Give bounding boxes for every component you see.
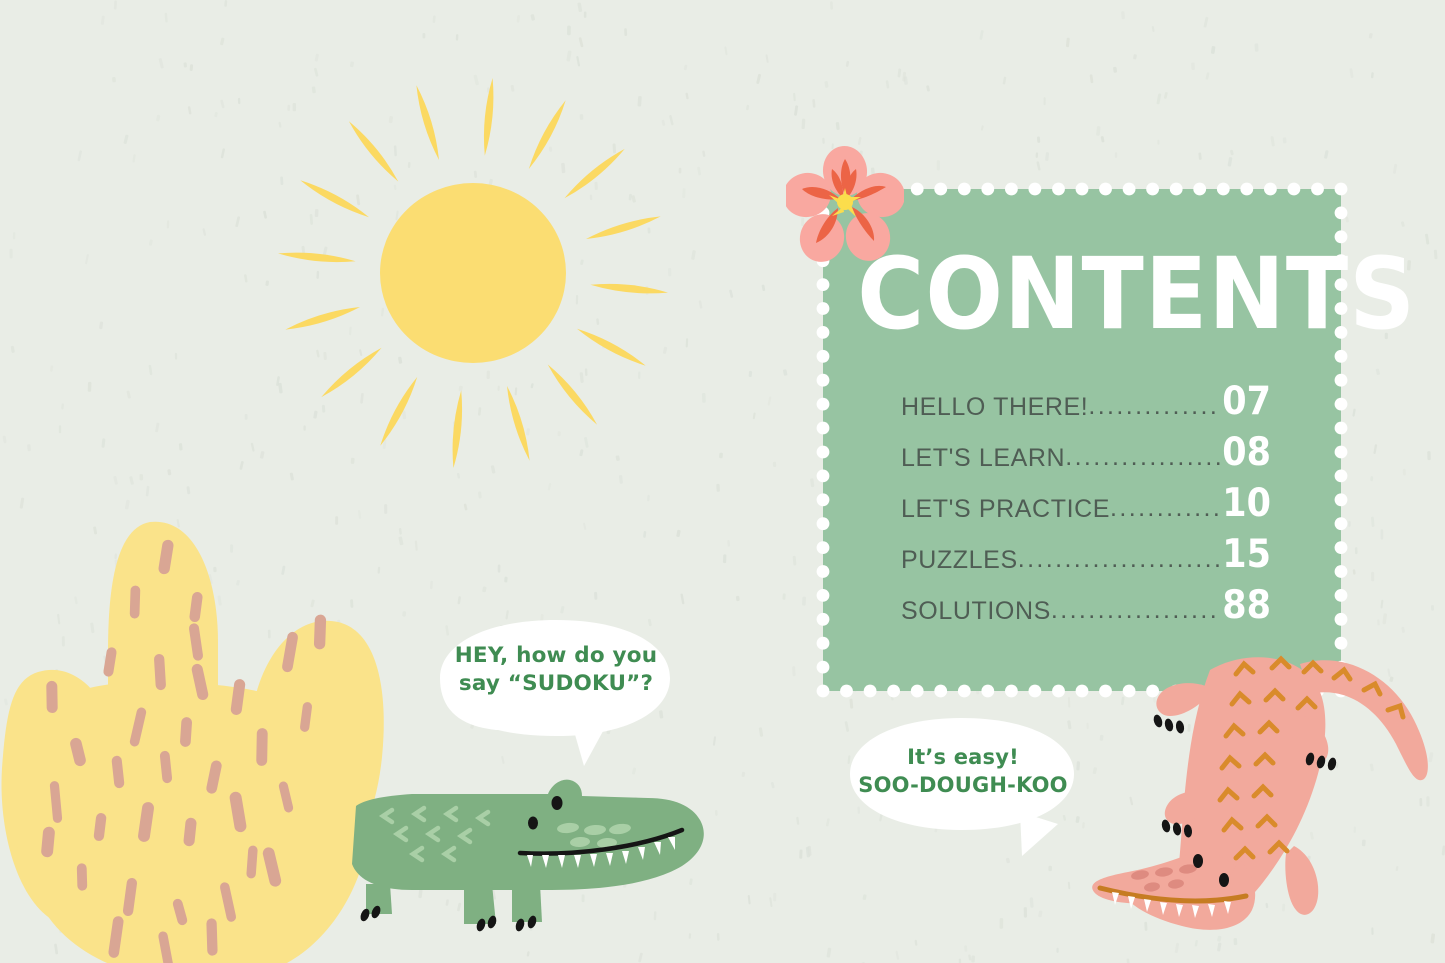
toc-entry[interactable]: HELLO THERE! ................ 07 <box>901 384 1271 435</box>
toc-page-number: 08 <box>1222 430 1271 475</box>
toc-page-number: 10 <box>1222 481 1271 526</box>
table-of-contents: HELLO THERE! ................ 07 LET'S L… <box>901 384 1271 639</box>
toc-label: LET'S PRACTICE <box>901 495 1110 524</box>
toc-label: HELLO THERE! <box>901 393 1088 422</box>
speech-bubble-text: HEY, how do you say “SUDOKU”? <box>422 642 690 699</box>
toc-page-number: 07 <box>1222 379 1271 424</box>
toc-entry[interactable]: PUZZLES ........................ 15 <box>901 537 1271 588</box>
speech-bubble-green-croc: HEY, how do you say “SUDOKU”? <box>422 618 690 768</box>
toc-page-number: 15 <box>1222 532 1271 577</box>
green-crocodile <box>352 772 714 963</box>
toc-page-number: 88 <box>1222 583 1271 628</box>
sun-illustration <box>258 58 688 488</box>
book-page: CONTENTS HELLO THERE! ................ 0… <box>0 0 1445 963</box>
toc-entry[interactable]: LET'S LEARN .................. 08 <box>901 435 1271 486</box>
page-title: CONTENTS <box>857 245 1309 344</box>
toc-dot-leader: ............. <box>1110 494 1220 523</box>
toc-label: SOLUTIONS <box>901 597 1051 626</box>
speech-bubble-text: It’s easy! SOO-DOUGH-KOO <box>832 744 1094 799</box>
toc-dot-leader: .................. <box>1051 596 1220 625</box>
toc-label: PUZZLES <box>901 546 1018 575</box>
speech-bubble-pink-croc: It’s easy! SOO-DOUGH-KOO <box>832 716 1094 864</box>
toc-dot-leader: .................. <box>1065 443 1220 472</box>
toc-dot-leader: ........................ <box>1018 545 1221 574</box>
pink-crocodile <box>1088 628 1445 963</box>
contents-card: CONTENTS HELLO THERE! ................ 0… <box>823 189 1341 691</box>
toc-label: LET'S LEARN <box>901 444 1065 473</box>
toc-entry[interactable]: LET'S PRACTICE ............. 10 <box>901 486 1271 537</box>
toc-dot-leader: ................ <box>1088 392 1220 421</box>
flower-icon <box>786 145 904 263</box>
